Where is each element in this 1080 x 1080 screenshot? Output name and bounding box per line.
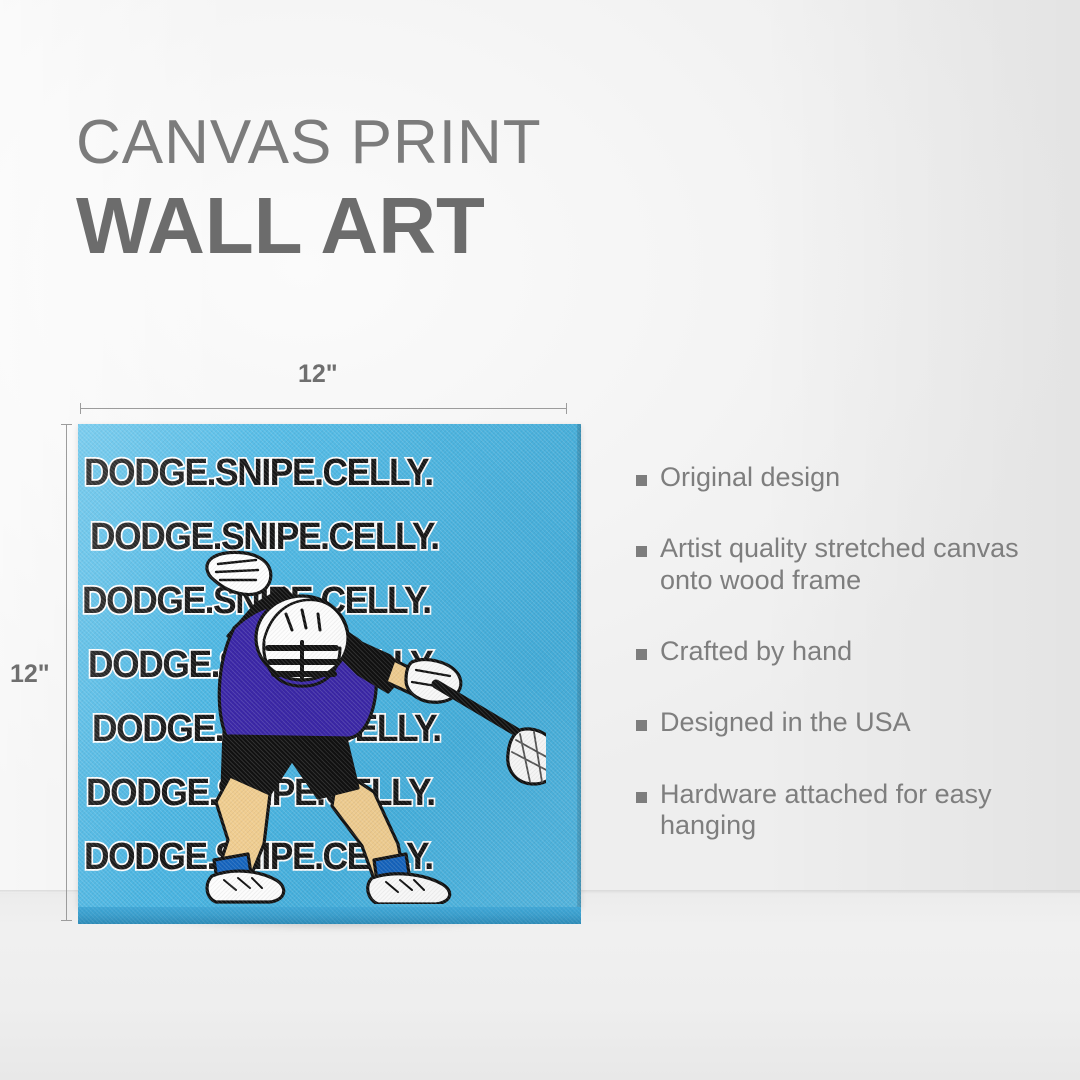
feature-label: Hardware attached for easy hanging bbox=[660, 779, 1066, 842]
player-left-cleat bbox=[207, 871, 284, 902]
feature-label: Crafted by hand bbox=[660, 636, 1066, 667]
feature-item: Hardware attached for easy hanging bbox=[636, 779, 1066, 842]
canvas-print[interactable]: DODGE.SNIPE.CELLY.DODGE.SNIPE.CELLY.DODG… bbox=[78, 424, 581, 924]
feature-label: Artist quality stretched canvas onto woo… bbox=[660, 533, 1066, 596]
bullet-square-icon bbox=[636, 792, 647, 803]
height-dimension-line bbox=[66, 424, 67, 921]
feature-label: Original design bbox=[660, 462, 1066, 493]
feature-item: Designed in the USA bbox=[636, 707, 1066, 738]
canvas-bottom-depth bbox=[78, 907, 581, 924]
player-right-cleat bbox=[368, 874, 450, 904]
feature-item: Artist quality stretched canvas onto woo… bbox=[636, 533, 1066, 596]
feature-item: Original design bbox=[636, 462, 1066, 493]
feature-label: Designed in the USA bbox=[660, 707, 1066, 738]
product-mockup: CANVAS PRINT WALL ART 12" 12" DODGE.SNIP… bbox=[0, 0, 1080, 1080]
bullet-square-icon bbox=[636, 649, 647, 660]
bullet-square-icon bbox=[636, 475, 647, 486]
headline-line-1: CANVAS PRINT bbox=[76, 112, 542, 174]
width-dimension-line bbox=[80, 408, 567, 409]
bullet-square-icon bbox=[636, 720, 647, 731]
headline-block: CANVAS PRINT WALL ART bbox=[76, 112, 542, 266]
width-dimension-label: 12" bbox=[298, 360, 338, 389]
lacrosse-player-illustration bbox=[106, 544, 546, 904]
bullet-square-icon bbox=[636, 546, 647, 557]
canvas-front-face: DODGE.SNIPE.CELLY.DODGE.SNIPE.CELLY.DODG… bbox=[78, 424, 581, 907]
player-left-glove bbox=[207, 552, 271, 594]
headline-line-2: WALL ART bbox=[76, 186, 542, 266]
artwork-text-row: DODGE.SNIPE.CELLY. bbox=[84, 452, 433, 495]
feature-item: Crafted by hand bbox=[636, 636, 1066, 667]
canvas-right-edge bbox=[577, 424, 581, 907]
height-dimension-label: 12" bbox=[10, 660, 50, 689]
feature-list: Original designArtist quality stretched … bbox=[636, 462, 1066, 881]
